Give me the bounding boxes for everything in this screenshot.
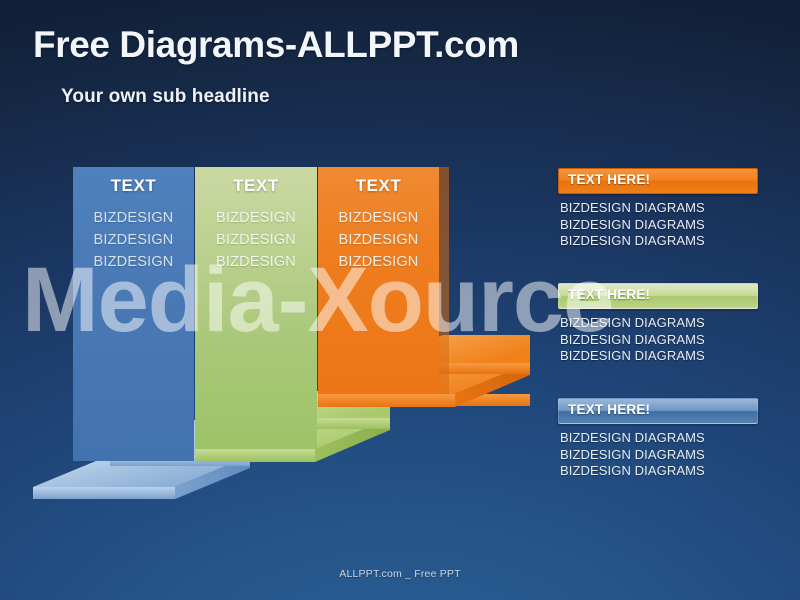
callout-blue[interactable]: TEXT HERE! BIZDESIGN DIAGRAMS BIZDESIGN … (558, 398, 758, 480)
callout-orange-lines: BIZDESIGN DIAGRAMS BIZDESIGN DIAGRAMS BI… (558, 200, 758, 250)
callout-blue-line-1: BIZDESIGN DIAGRAMS (560, 430, 758, 447)
callout-orange-label: TEXT HERE! (568, 172, 650, 187)
panel-green[interactable]: TEXT BIZDESIGN BIZDESIGN BIZDESIGN (195, 167, 317, 449)
callout-orange-line-2: BIZDESIGN DIAGRAMS (560, 217, 758, 234)
panel-orange[interactable]: TEXT BIZDESIGN BIZDESIGN BIZDESIGN (318, 167, 439, 394)
callout-green-line-2: BIZDESIGN DIAGRAMS (560, 332, 758, 349)
panel-blue[interactable]: TEXT BIZDESIGN BIZDESIGN BIZDESIGN (73, 167, 194, 461)
callout-green-line-1: BIZDESIGN DIAGRAMS (560, 315, 758, 332)
panel-orange-line-1: BIZDESIGN (318, 207, 439, 229)
slide-canvas: Free Diagrams-ALLPPT.com Your own sub he… (0, 0, 800, 600)
callout-blue-line-2: BIZDESIGN DIAGRAMS (560, 447, 758, 464)
panel-blue-line-2: BIZDESIGN (73, 229, 194, 251)
panel-orange-title: TEXT (318, 176, 439, 196)
callout-orange-bar[interactable]: TEXT HERE! (558, 168, 758, 194)
panel-blue-title: TEXT (73, 176, 194, 196)
panel-blue-line-1: BIZDESIGN (73, 207, 194, 229)
panel-green-line-2: BIZDESIGN (195, 229, 317, 251)
panel-blue-lines: BIZDESIGN BIZDESIGN BIZDESIGN (73, 207, 194, 273)
callout-orange-line-1: BIZDESIGN DIAGRAMS (560, 200, 758, 217)
callout-blue-line-3: BIZDESIGN DIAGRAMS (560, 463, 758, 480)
callout-orange-line-3: BIZDESIGN DIAGRAMS (560, 233, 758, 250)
callout-green[interactable]: TEXT HERE! BIZDESIGN DIAGRAMS BIZDESIGN … (558, 283, 758, 365)
callout-blue-label: TEXT HERE! (568, 402, 650, 417)
callout-blue-lines: BIZDESIGN DIAGRAMS BIZDESIGN DIAGRAMS BI… (558, 430, 758, 480)
panel-green-line-3: BIZDESIGN (195, 251, 317, 273)
slide-footer: ALLPPT.com _ Free PPT (0, 568, 800, 580)
callout-green-lines: BIZDESIGN DIAGRAMS BIZDESIGN DIAGRAMS BI… (558, 315, 758, 365)
callout-green-line-3: BIZDESIGN DIAGRAMS (560, 348, 758, 365)
panel-green-title: TEXT (195, 176, 317, 196)
panel-blue-line-3: BIZDESIGN (73, 251, 194, 273)
panel-green-line-1: BIZDESIGN (195, 207, 317, 229)
callout-orange[interactable]: TEXT HERE! BIZDESIGN DIAGRAMS BIZDESIGN … (558, 168, 758, 250)
panel-orange-lines: BIZDESIGN BIZDESIGN BIZDESIGN (318, 207, 439, 273)
panel-orange-edge (439, 167, 449, 394)
panel-orange-line-3: BIZDESIGN (318, 251, 439, 273)
callout-blue-bar[interactable]: TEXT HERE! (558, 398, 758, 424)
panel-green-lines: BIZDESIGN BIZDESIGN BIZDESIGN (195, 207, 317, 273)
callout-green-bar[interactable]: TEXT HERE! (558, 283, 758, 309)
panel-orange-line-2: BIZDESIGN (318, 229, 439, 251)
callout-green-label: TEXT HERE! (568, 287, 650, 302)
